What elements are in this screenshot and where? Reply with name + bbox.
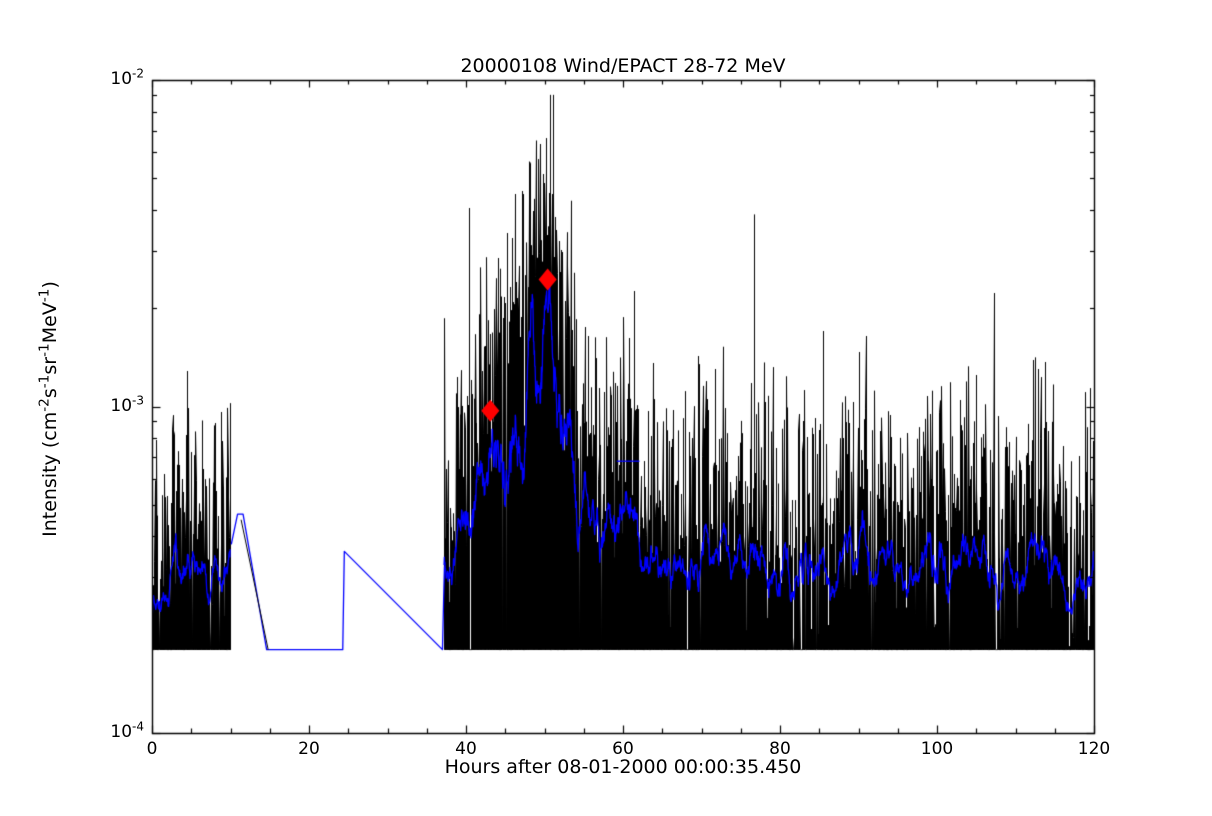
- chart-canvas: [0, 0, 1212, 812]
- plot-area: [0, 0, 1212, 816]
- x-axis-label: Hours after 08-01-2000 00:00:35.450: [152, 756, 1094, 778]
- figure-canvas: 20000108 Wind/EPACT 28-72 MeV Intensity …: [0, 0, 1212, 812]
- y-tick-label: 10-2: [94, 69, 144, 89]
- y-tick-label: 10-3: [94, 396, 144, 416]
